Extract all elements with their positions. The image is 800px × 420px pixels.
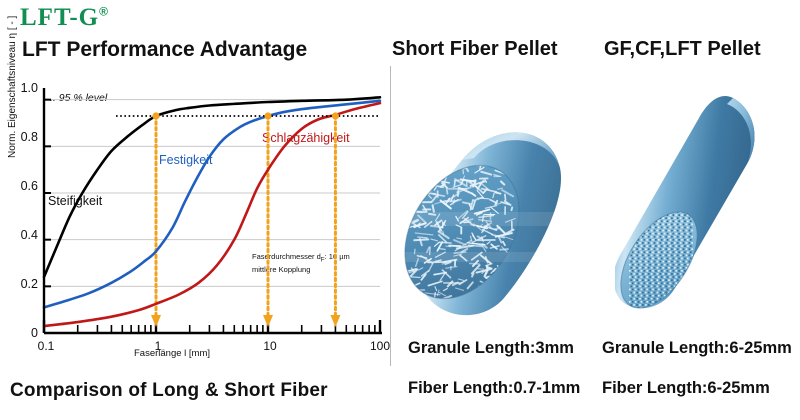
brand-logo-text: LFT-G — [20, 4, 99, 31]
heading-right: GF,CF,LFT Pellet — [604, 38, 761, 61]
infographic-root: LFT-G® LFT Performance Advantage Short F… — [0, 0, 800, 420]
chart-gridlines — [44, 100, 380, 287]
caption-middle-fiber: Fiber Length:0.7-1mm — [408, 379, 580, 398]
heading-left: LFT Performance Advantage — [22, 38, 307, 62]
caption-right-fiber: Fiber Length:6-25mm — [602, 379, 770, 398]
heading-middle: Short Fiber Pellet — [392, 38, 558, 61]
caption-left: Comparison of Long & Short Fiber — [10, 380, 328, 402]
panel-divider-left — [390, 66, 391, 366]
short-fiber-pellet — [400, 64, 600, 344]
lft-pellet — [615, 64, 795, 344]
chart-axis-ticks — [44, 100, 380, 333]
banding-1 — [400, 212, 600, 226]
chart-plot-area — [8, 66, 386, 368]
chart-axes — [44, 88, 382, 333]
fiber-length-chart: Norm. Eigenschaftsniveau η [ - ] Faserlä… — [8, 66, 386, 368]
caption-middle-granule: Granule Length:3mm — [408, 339, 574, 358]
chart-series-curves — [44, 97, 380, 326]
caption-right-granule: Granule Length:6-25mm — [602, 339, 792, 358]
brand-logo: LFT-G® — [20, 4, 109, 32]
registered-trademark-icon: ® — [99, 5, 109, 19]
banding-2 — [400, 252, 600, 262]
